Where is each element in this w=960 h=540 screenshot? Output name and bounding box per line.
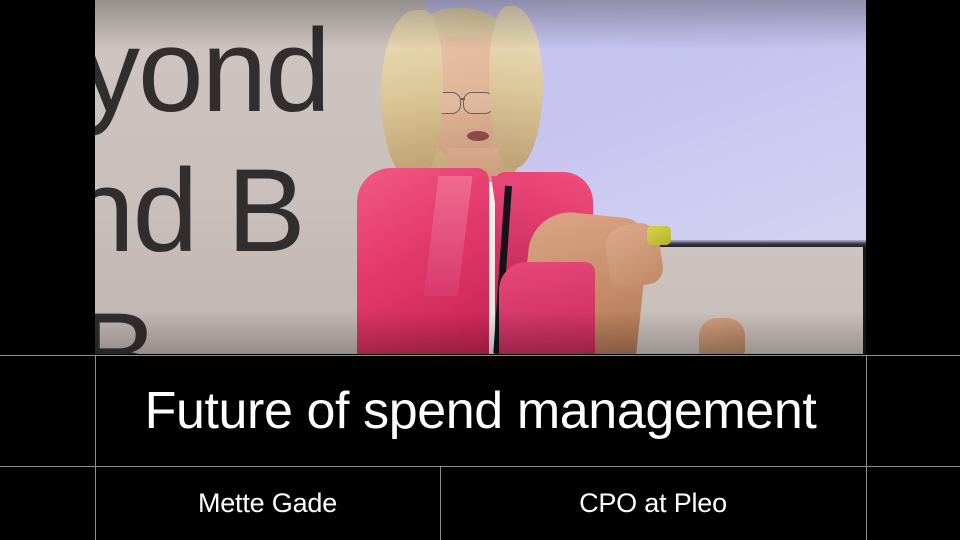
speaker-role-cell: CPO at Pleo bbox=[440, 467, 866, 540]
slide-title: Future of spend management bbox=[145, 385, 817, 437]
presentation-slide: yond nd B B nd B B bbox=[0, 0, 960, 540]
speaker-blazer-sleeve bbox=[499, 262, 595, 354]
speaker-meta-band: Mette Gade CPO at Pleo bbox=[95, 467, 866, 540]
glasses-bridge bbox=[461, 98, 465, 100]
speaker-photo: yond nd B B nd B B bbox=[95, 0, 866, 354]
speaker-name-cell: Mette Gade bbox=[95, 467, 440, 540]
divider-frame-right bbox=[866, 355, 867, 540]
speaker-figure bbox=[95, 0, 866, 354]
speaker-role: CPO at Pleo bbox=[579, 490, 727, 517]
speaker-lower-hand bbox=[699, 318, 745, 354]
speaker-mouth bbox=[467, 131, 489, 141]
speaker-hair-front-right bbox=[489, 6, 543, 168]
speaker-name: Mette Gade bbox=[198, 490, 337, 517]
title-band: Future of spend management bbox=[95, 356, 866, 466]
presentation-clicker bbox=[647, 226, 671, 245]
speaker-hair-front-left bbox=[381, 10, 443, 182]
